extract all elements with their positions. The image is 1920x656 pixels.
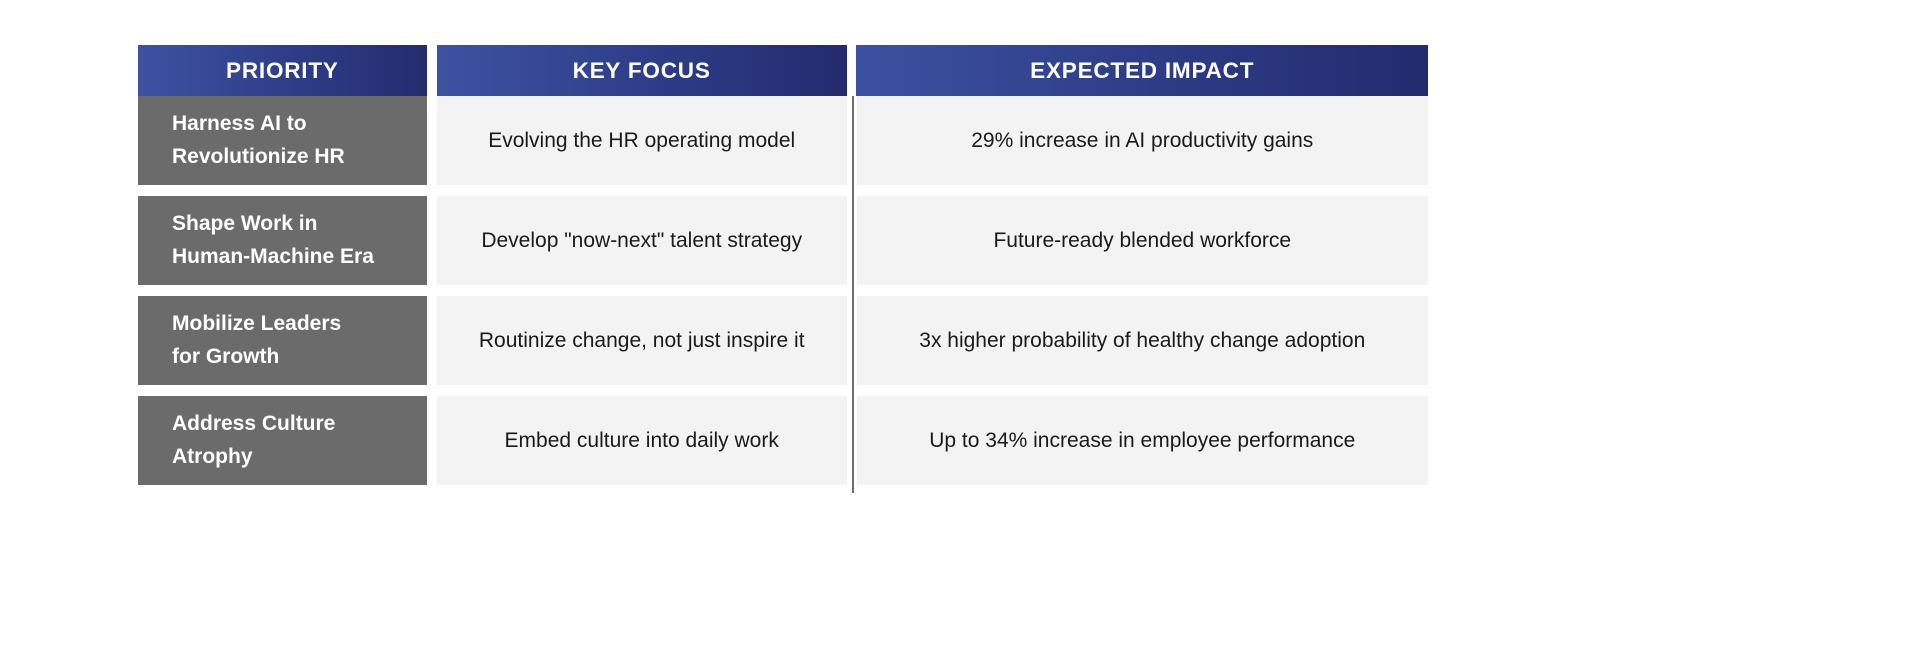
table-header-row: PRIORITY KEY FOCUS EXPECTED IMPACT [138, 45, 1428, 96]
expected-impact-cell: Future-ready blended workforce [857, 196, 1428, 285]
key-focus-text: Develop "now-next" talent strategy [481, 229, 802, 253]
priority-cell: Shape Work in Human-Machine Era [138, 196, 427, 285]
key-focus-cell: Routinize change, not just inspire it [437, 296, 847, 385]
row-gap-1 [427, 396, 437, 485]
key-focus-text: Evolving the HR operating model [488, 129, 795, 153]
header-gap-2 [847, 45, 857, 96]
priority-cell: Mobilize Leaders for Growth [138, 296, 427, 385]
key-focus-cell: Embed culture into daily work [437, 396, 847, 485]
table-body: Harness AI to Revolutionize HR Evolving … [138, 96, 1428, 493]
table-row: Shape Work in Human-Machine Era Develop … [138, 196, 1428, 285]
column-header-expected-impact: EXPECTED IMPACT [856, 45, 1428, 96]
key-focus-text: Routinize change, not just inspire it [479, 329, 805, 353]
column-header-key-focus-label: KEY FOCUS [573, 58, 711, 84]
row-gap-1 [427, 296, 437, 385]
row-gap-1 [427, 196, 437, 285]
key-focus-text: Embed culture into daily work [505, 429, 779, 453]
priority-line-2: Revolutionize HR [172, 141, 427, 174]
column-header-priority: PRIORITY [138, 45, 427, 96]
priority-cell: Address Culture Atrophy [138, 396, 427, 485]
priority-line-1: Address Culture [172, 408, 427, 441]
column-divider [852, 96, 854, 493]
table-row: Mobilize Leaders for Growth Routinize ch… [138, 296, 1428, 385]
priority-line-1: Mobilize Leaders [172, 308, 427, 341]
table-row: Address Culture Atrophy Embed culture in… [138, 396, 1428, 485]
priority-line-1: Harness AI to [172, 108, 427, 141]
row-gap-1 [427, 96, 437, 185]
column-header-expected-impact-label: EXPECTED IMPACT [1030, 58, 1254, 84]
priority-line-2: for Growth [172, 341, 427, 374]
expected-impact-cell: 3x higher probability of healthy change … [857, 296, 1428, 385]
priority-line-1: Shape Work in [172, 208, 427, 241]
header-gap-1 [427, 45, 437, 96]
key-focus-cell: Develop "now-next" talent strategy [437, 196, 847, 285]
priority-line-2: Human-Machine Era [172, 241, 427, 274]
expected-impact-text: 3x higher probability of healthy change … [919, 329, 1365, 353]
priorities-table: PRIORITY KEY FOCUS EXPECTED IMPACT Harne… [138, 45, 1428, 493]
column-header-key-focus: KEY FOCUS [437, 45, 847, 96]
column-header-priority-label: PRIORITY [226, 58, 339, 84]
priority-line-2: Atrophy [172, 441, 427, 474]
expected-impact-text: 29% increase in AI productivity gains [971, 129, 1313, 153]
key-focus-cell: Evolving the HR operating model [437, 96, 847, 185]
expected-impact-cell: Up to 34% increase in employee performan… [857, 396, 1428, 485]
expected-impact-text: Future-ready blended workforce [993, 229, 1291, 253]
expected-impact-cell: 29% increase in AI productivity gains [857, 96, 1428, 185]
table-row: Harness AI to Revolutionize HR Evolving … [138, 96, 1428, 185]
priority-cell: Harness AI to Revolutionize HR [138, 96, 427, 185]
expected-impact-text: Up to 34% increase in employee performan… [929, 429, 1355, 453]
